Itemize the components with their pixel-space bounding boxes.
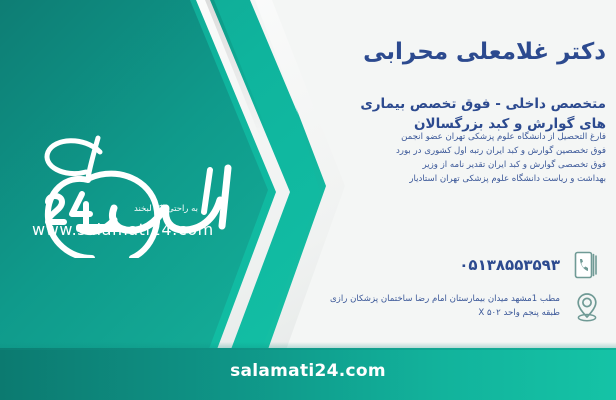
phone-row[interactable]: ۰۵۱۳۸۵۵۳۵۹۳ [284, 246, 604, 284]
location-pin-icon [570, 288, 604, 326]
profile-content: دکتر غلامعلی محرابی متخصص داخلی - فوق تخ… [276, 0, 606, 400]
bio-line: فوق تخصصی گوارش و کبد ایران تقدیر نامه ا… [320, 159, 606, 173]
bio-line: فارغ التحصیل از دانشگاه علوم پزشکی تهران… [320, 131, 606, 145]
logo-website-url[interactable]: www.salamati24.com [32, 220, 214, 239]
footer-website[interactable]: salamati24.com [0, 361, 616, 381]
bio-line: فوق تخصصین گوارش و کبد ایران رتبه اول کش… [320, 145, 606, 159]
address-line: طبقه پنجم واحد ۵۰۲ X [298, 307, 560, 321]
phone-number[interactable]: ۰۵۱۳۸۵۵۳۵۹۳ [459, 256, 560, 274]
address-line: مطب 1مشهد میدان بیمارستان امام رضا ساختم… [298, 293, 560, 307]
doctor-specialty: متخصص داخلی - فوق تخصص بیماری های گوارش … [338, 95, 606, 134]
footer-band: salamati24.com [0, 348, 616, 400]
doctor-bio: فارغ التحصیل از دانشگاه علوم پزشکی تهران… [320, 131, 606, 187]
bio-line: بهداشت و ریاست دانشگاه علوم پزشکی تهران … [320, 173, 606, 187]
clinic-address: مطب 1مشهد میدان بیمارستان امام رضا ساختم… [298, 293, 560, 321]
doctor-name: دکتر غلامعلی محرابی [276, 38, 606, 67]
phone-book-icon [570, 246, 604, 284]
doctor-profile-card: به راحتی یک لبخند www.salamati24.com دکت… [0, 0, 616, 400]
salamati-logo: به راحتی یک لبخند www.salamati24.com [14, 108, 264, 258]
address-row[interactable]: مطب 1مشهد میدان بیمارستان امام رضا ساختم… [284, 288, 604, 326]
logo-tagline: به راحتی یک لبخند [134, 204, 198, 214]
